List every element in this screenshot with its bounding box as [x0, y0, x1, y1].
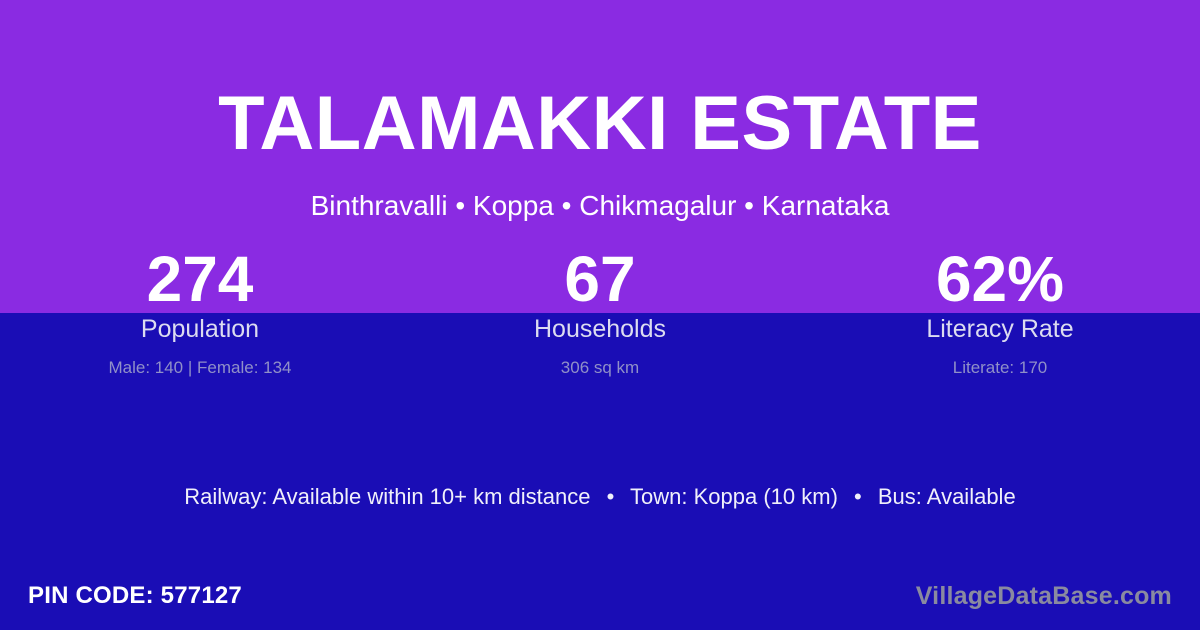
bus-info: Bus: Available: [878, 484, 1016, 509]
footer: PIN CODE: 577127 VillageDataBase.com: [0, 562, 1200, 630]
stat-value: 67: [400, 248, 800, 310]
transport-info: Railway: Available within 10+ km distanc…: [0, 486, 1200, 508]
stat-label: Literacy Rate: [800, 310, 1200, 342]
breadcrumb: Binthravalli • Koppa • Chikmagalur • Kar…: [0, 162, 1200, 220]
stat-literacy-rate: 62% Literacy Rate Literate: 170: [800, 248, 1200, 376]
stats-row: 274 Population Male: 140 | Female: 134 6…: [0, 248, 1200, 376]
stat-population: 274 Population Male: 140 | Female: 134: [0, 248, 400, 376]
stat-sublabel: Literate: 170: [800, 342, 1200, 376]
stat-sublabel: Male: 140 | Female: 134: [0, 342, 400, 376]
stat-label: Population: [0, 310, 400, 342]
railway-info: Railway: Available within 10+ km distanc…: [184, 484, 590, 509]
stat-sublabel: 306 sq km: [400, 342, 800, 376]
stat-label: Households: [400, 310, 800, 342]
stat-value: 274: [0, 248, 400, 310]
header: TALAMAKKI ESTATE Binthravalli • Koppa • …: [0, 0, 1200, 220]
bullet-separator-icon: •: [597, 486, 625, 508]
page-title: TALAMAKKI ESTATE: [0, 0, 1200, 162]
stat-value: 62%: [800, 248, 1200, 310]
site-brand: VillageDataBase.com: [916, 584, 1172, 609]
village-info-card: TALAMAKKI ESTATE Binthravalli • Koppa • …: [0, 0, 1200, 630]
stat-households: 67 Households 306 sq km: [400, 248, 800, 376]
pin-code: PIN CODE: 577127: [28, 584, 242, 608]
town-info: Town: Koppa (10 km): [630, 484, 838, 509]
bullet-separator-icon: •: [844, 486, 872, 508]
